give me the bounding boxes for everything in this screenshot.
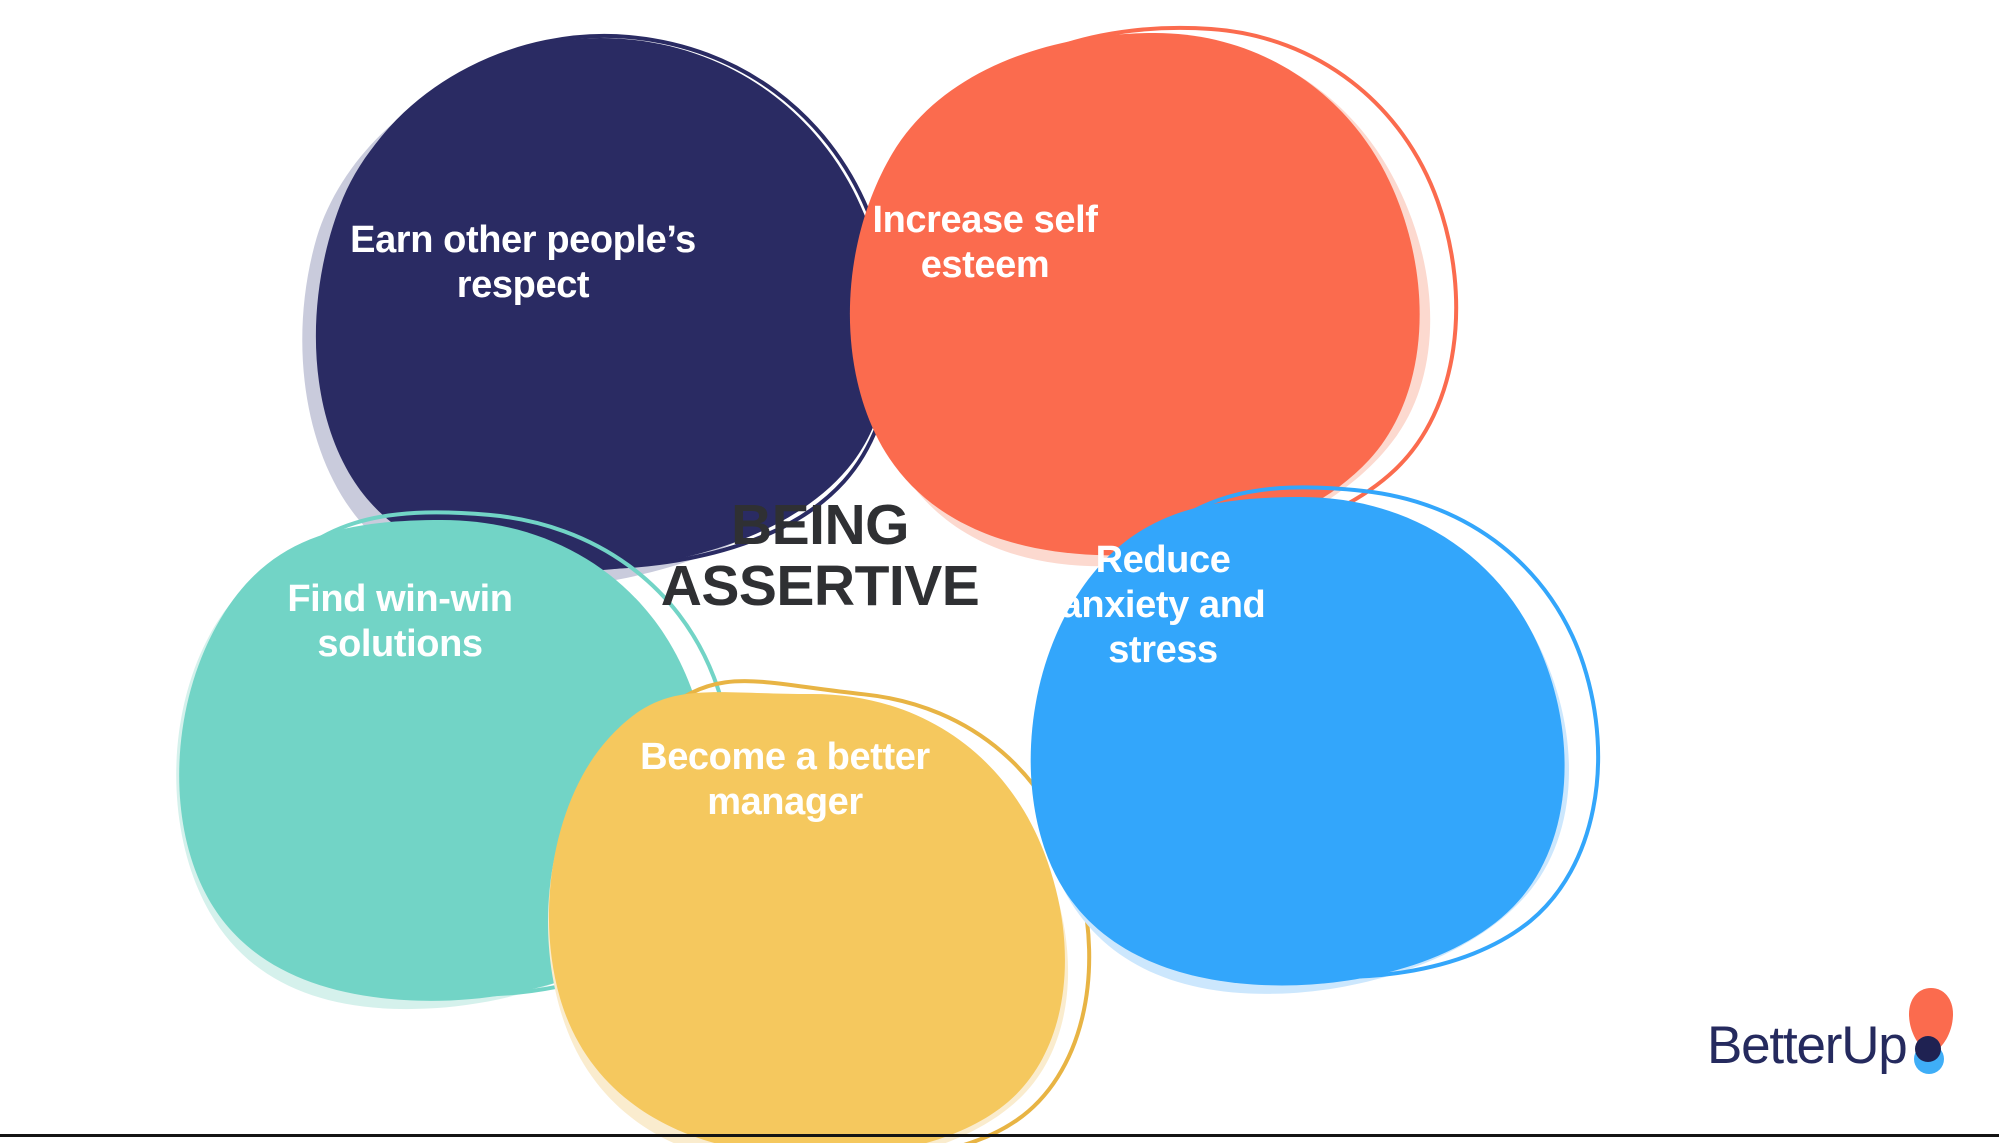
- navy-dot-icon: [1915, 1036, 1941, 1062]
- betterup-logo[interactable]: BetterUp: [1707, 986, 1957, 1096]
- page-title: BEING ASSERTIVE: [640, 495, 1000, 617]
- betterup-wordmark: BetterUp: [1707, 1019, 1907, 1072]
- blob-group-become-better-manager[interactable]: [530, 665, 1116, 1143]
- blob-fill-become-better-manager: [549, 692, 1065, 1143]
- betterup-mark-icon: [1904, 986, 1958, 1076]
- blob-fill-increase-self-esteem: [850, 33, 1420, 555]
- slide-canvas: Earn other people’s respect Increase sel…: [0, 0, 1999, 1143]
- bottom-divider: [0, 1134, 1999, 1137]
- blob-fill-reduce-anxiety-stress: [1031, 497, 1565, 985]
